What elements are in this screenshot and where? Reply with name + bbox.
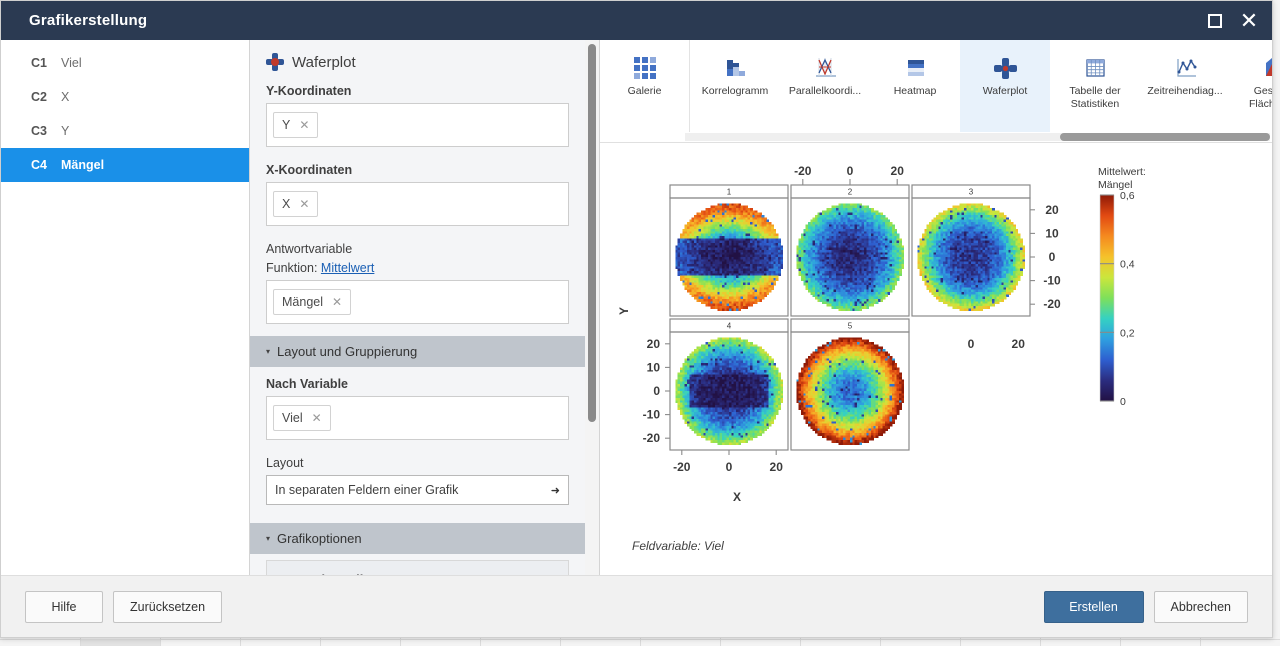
create-button[interactable]: Erstellen <box>1044 591 1144 623</box>
chip-label: X <box>282 197 290 211</box>
tabstrip-scrollbar[interactable] <box>600 132 1272 143</box>
tab-zeitreihendiag[interactable]: Zeitreihendiag... <box>1140 40 1230 132</box>
variable-chip[interactable]: Mängel ✕ <box>273 289 351 315</box>
tab-label: Waferplot <box>979 85 1032 98</box>
variable-chip[interactable]: Viel ✕ <box>273 405 331 431</box>
dialog-titlebar: Grafikerstellung ✕ <box>1 1 1272 40</box>
variable-row-c3[interactable]: C3Y <box>1 114 249 148</box>
chart-type-tabstrip: GalerieKorrelogrammParallelkoordi...Heat… <box>600 40 1272 132</box>
function-row: Funktion: Mittelwert <box>250 261 585 280</box>
tab-label: Zeitreihendiag... <box>1143 85 1226 98</box>
svg-text:0: 0 <box>847 164 854 178</box>
tab-label: Korrelogramm <box>698 85 773 98</box>
section-title: Layout und Gruppierung <box>277 344 417 359</box>
x-coordinates-field[interactable]: X ✕ <box>266 182 569 226</box>
by-variable-field[interactable]: Viel ✕ <box>266 396 569 440</box>
section-header-layout-grouping[interactable]: ▾ Layout und Gruppierung <box>250 336 585 367</box>
tab-gestap-fl-chend[interactable]: Gestap... Flächend... <box>1230 40 1272 132</box>
svg-text:-20: -20 <box>794 164 812 178</box>
legend-title-line1: Mittelwert: <box>1098 166 1146 178</box>
variable-row-c4[interactable]: C4Mängel <box>1 148 249 182</box>
waferplot-icon <box>266 53 284 71</box>
tab-label: Heatmap <box>890 85 941 98</box>
wafer-panel-5 <box>796 337 904 445</box>
square-icon[interactable] <box>1200 6 1230 36</box>
variable-chip[interactable]: Y ✕ <box>273 112 318 138</box>
tab-label: Galerie <box>624 85 666 98</box>
dialog-body: C1VielC2XC3YC4Mängel Waferplot Y-Koordin… <box>1 40 1272 575</box>
section-body-layout-grouping: Nach Variable Viel ✕ Layout In separaten… <box>250 367 585 523</box>
timeseries-icon <box>1170 51 1200 85</box>
options-header: Waferplot <box>250 40 585 80</box>
tab-waferplot[interactable]: Waferplot <box>960 40 1050 132</box>
panel-label: 2 <box>848 188 853 197</box>
variable-column: C2 <box>1 90 61 104</box>
tab-korrelogramm[interactable]: Korrelogramm <box>690 40 780 132</box>
response-variable-label: Antwortvariable <box>250 238 585 261</box>
help-button[interactable]: Hilfe <box>25 591 103 623</box>
wafer-panel-4 <box>675 337 783 445</box>
chip-label: Viel <box>282 411 303 425</box>
close-icon[interactable]: ✕ <box>332 295 342 309</box>
parallel-coordinates-icon <box>810 51 840 85</box>
by-variable-label: Nach Variable <box>250 373 585 396</box>
variable-column: C4 <box>1 158 61 172</box>
grid-gallery-icon <box>634 51 656 85</box>
reset-button[interactable]: Zurücksetzen <box>113 591 222 623</box>
panel-label: 4 <box>727 322 732 331</box>
panel-label: 3 <box>969 188 974 197</box>
options-scrollbar-thumb[interactable] <box>588 44 596 422</box>
options-scrollbar[interactable] <box>585 40 599 575</box>
legend-tick-label: 0,6 <box>1120 190 1135 202</box>
legend-tick-label: 0,2 <box>1120 327 1135 339</box>
x-coordinates-label: X-Koordinaten <box>250 159 585 182</box>
function-link[interactable]: Mittelwert <box>321 261 374 275</box>
variable-column: C1 <box>1 56 61 70</box>
function-prefix: Funktion: <box>266 261 317 275</box>
close-icon[interactable]: ✕ <box>1234 6 1264 36</box>
variable-name: Mängel <box>61 158 104 172</box>
bar-staircase-icon <box>720 51 750 85</box>
panel-label: 5 <box>848 322 853 331</box>
variable-row-c1[interactable]: C1Viel <box>1 46 249 80</box>
y-coordinates-field[interactable]: Y ✕ <box>266 103 569 147</box>
variable-chip[interactable]: X ✕ <box>273 191 318 217</box>
graph-builder-dialog: Grafikerstellung ✕ C1VielC2XC3YC4Mängel … <box>0 0 1273 638</box>
y-coordinates-label: Y-Koordinaten <box>250 80 585 103</box>
options-panel: Waferplot Y-Koordinaten Y ✕ X-Koordinate… <box>250 40 600 575</box>
tabstrip-scrollbar-thumb[interactable] <box>1060 133 1270 141</box>
x-axis-label: X <box>733 490 741 504</box>
heatmap-icon <box>900 51 930 85</box>
layout-select[interactable]: In separaten Feldern einer Grafik ➜ <box>266 475 569 505</box>
chip-label: Mängel <box>282 295 323 309</box>
tab-heatmap[interactable]: Heatmap <box>870 40 960 132</box>
waferplot-icon <box>990 51 1020 85</box>
close-icon[interactable]: ✕ <box>299 197 309 211</box>
table-icon <box>1080 51 1110 85</box>
dialog-title: Grafikerstellung <box>29 12 147 29</box>
variable-name: Viel <box>61 56 82 70</box>
close-icon[interactable]: ✕ <box>299 118 309 132</box>
wafer-panel-2 <box>796 203 904 311</box>
layout-label: Layout <box>250 452 585 475</box>
variable-name: X <box>61 90 69 104</box>
legend-tick-label: 0,4 <box>1120 259 1135 271</box>
panel-label: 1 <box>727 188 732 197</box>
wafer-panel-3 <box>917 203 1025 311</box>
legend-tick-label: 0 <box>1120 396 1126 408</box>
tab-parallelkoordi[interactable]: Parallelkoordi... <box>780 40 870 132</box>
variable-name: Y <box>61 124 69 138</box>
tab-galerie[interactable]: Galerie <box>600 40 690 132</box>
chart-preview-area: Feldvariable: Viel -2002012345-20-100102… <box>600 143 1272 575</box>
options-header-title: Waferplot <box>292 54 356 71</box>
tab-tabelle-der-statistiken[interactable]: Tabelle der Statistiken <box>1050 40 1140 132</box>
y-axis-label: Y <box>617 307 631 315</box>
window-controls: ✕ <box>1200 6 1264 36</box>
dialog-footer: Hilfe Zurücksetzen Erstellen Abbrechen <box>1 575 1272 637</box>
triangle-collapse-icon: ▾ <box>266 534 270 543</box>
chevron-down-icon: ➜ <box>551 484 560 497</box>
tab-label: Tabelle der Statistiken <box>1050 85 1140 111</box>
section-title: Grafikoptionen <box>277 531 362 546</box>
close-icon[interactable]: ✕ <box>312 411 322 425</box>
legend-colorbar <box>1100 195 1114 401</box>
tab-label: Gestap... Flächend... <box>1230 85 1272 111</box>
chip-label: Y <box>282 118 290 132</box>
svg-text:20: 20 <box>891 164 905 178</box>
variable-list: C1VielC2XC3YC4Mängel <box>1 40 250 575</box>
preview-panel: GalerieKorrelogrammParallelkoordi...Heat… <box>600 40 1272 575</box>
variable-row-c2[interactable]: C2X <box>1 80 249 114</box>
stacked-area-icon <box>1260 51 1272 85</box>
layout-select-value: In separaten Feldern einer Grafik <box>275 483 458 497</box>
section-header-chart-options[interactable]: ▾ Grafikoptionen <box>250 523 585 554</box>
triangle-collapse-icon: ▾ <box>266 347 270 356</box>
waferplot-chart: -2002012345-20-1001020020-20-1001020-200… <box>600 143 1272 575</box>
response-variable-field[interactable]: Mängel ✕ <box>266 280 569 324</box>
cancel-button[interactable]: Abbrechen <box>1154 591 1248 623</box>
data-display-label: Datendarstellung <box>266 560 569 575</box>
tab-label: Parallelkoordi... <box>785 85 865 98</box>
wafer-panel-1 <box>675 203 783 311</box>
variable-column: C3 <box>1 124 61 138</box>
